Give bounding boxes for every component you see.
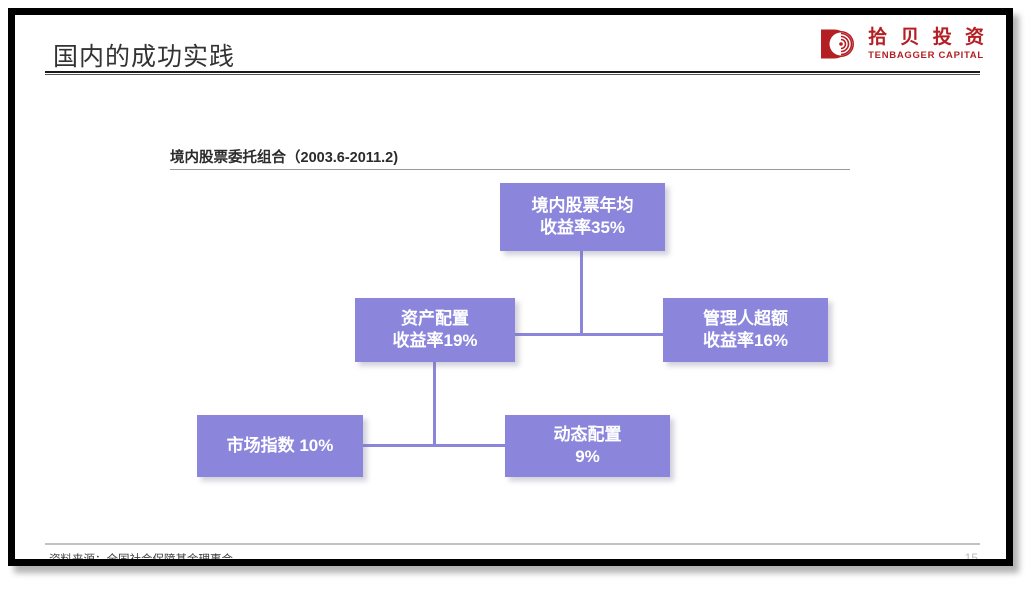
node-line: 市场指数 10%	[227, 435, 334, 457]
slide-canvas: 国内的成功实践 拾 贝 投 资 TENBAGGER CAPITAL 境内股票委托…	[15, 15, 1006, 559]
page-number: 15	[965, 551, 978, 559]
returns-attribution-diagram: 境内股票年均 收益率35% 资产配置 收益率19% 管理人超额 收益率16% 市…	[15, 15, 1006, 559]
footer-divider	[45, 543, 980, 545]
node-line: 收益率19%	[392, 330, 477, 352]
diagram-node-dynamic-allocation: 动态配置 9%	[505, 415, 670, 477]
diagram-node-manager-excess: 管理人超额 收益率16%	[663, 298, 828, 362]
node-line: 管理人超额	[703, 308, 788, 330]
node-line: 动态配置	[554, 424, 622, 446]
node-line: 资产配置	[401, 308, 469, 330]
connector-tier2-horizontal	[361, 444, 507, 447]
diagram-node-asset-allocation: 资产配置 收益率19%	[355, 298, 515, 362]
node-line: 9%	[575, 446, 600, 468]
connector-total-to-tier1	[580, 251, 583, 335]
node-line: 收益率16%	[703, 330, 788, 352]
source-note: 资料来源：全国社会保障基金理事会。	[49, 551, 245, 559]
diagram-node-market-index: 市场指数 10%	[197, 415, 363, 477]
slide-frame: 国内的成功实践 拾 贝 投 资 TENBAGGER CAPITAL 境内股票委托…	[8, 8, 1013, 566]
node-line: 收益率35%	[540, 217, 625, 239]
node-line: 境内股票年均	[532, 195, 634, 217]
connector-tier1-horizontal	[513, 333, 665, 336]
diagram-node-total-return: 境内股票年均 收益率35%	[500, 183, 665, 251]
connector-allocation-to-tier2	[433, 362, 436, 446]
